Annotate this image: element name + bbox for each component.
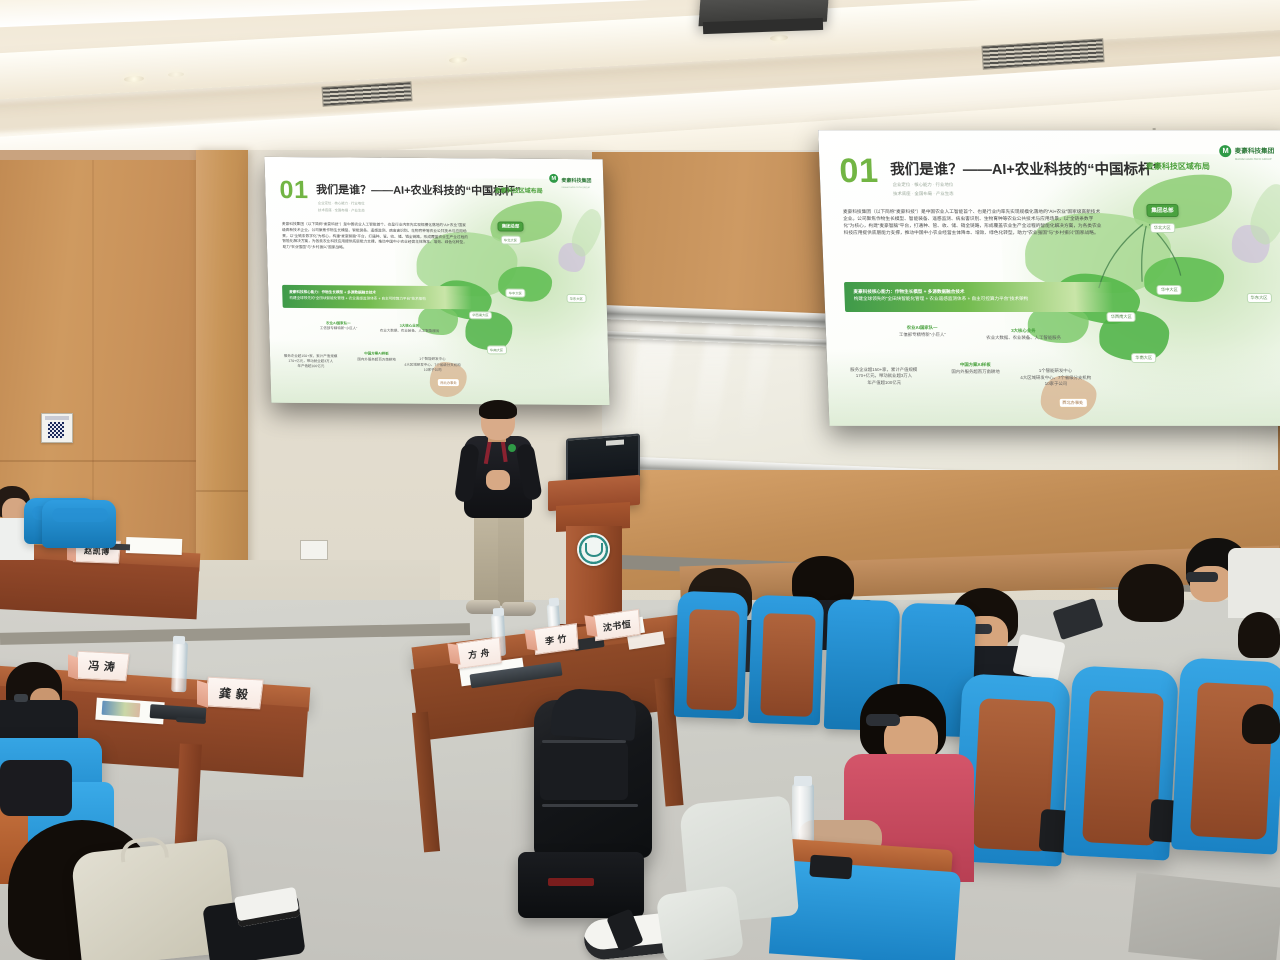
presenter-hair — [479, 400, 517, 419]
lecture-hall-photo: 01 我们是谁？——AI+农业科技的“中国标杆” 企业定位 · 核心能力 · 行… — [0, 0, 1280, 960]
map-label-hq: 集团总部 — [1146, 204, 1179, 217]
map-label-region: 华北大区 — [1150, 223, 1175, 233]
name-card-text: 沈书恒 — [602, 617, 631, 634]
audience-body — [1228, 548, 1280, 618]
map-label-region: 华南大区 — [486, 345, 506, 354]
name-card: 冯 涛 — [74, 651, 129, 682]
logo-mark-icon: M — [549, 174, 558, 183]
head-table-upper-front — [0, 557, 199, 620]
map-label-region: 西北办事处 — [1058, 398, 1087, 408]
chair-wood-back — [760, 613, 816, 717]
map-label-region: 华东大区 — [566, 294, 586, 303]
green-bar-line-1: 麦豪科技核心能力：作物生长模型 + 多源数据融合技术 — [853, 289, 1103, 295]
bottle-cap — [173, 636, 185, 644]
slide-subtitle-1: 企业定位 · 核心能力 · 行业地位 — [318, 200, 365, 205]
slide-subtitle-2: 技术底座 · 全国布局 · 产业生态 — [893, 191, 954, 197]
slide-stat-head: 3大核心业务 — [957, 328, 1089, 335]
slide-left: 01 我们是谁？——AI+农业科技的“中国标杆” 企业定位 · 核心能力 · 行… — [271, 163, 604, 399]
slide-stat-line: 年产值超100亿元 — [277, 364, 345, 370]
audience-legs — [656, 885, 745, 960]
projection-screen-left: 01 我们是谁？——AI+农业科技的“中国标杆” 企业定位 · 核心能力 · 行… — [264, 157, 609, 405]
wall-small-sign — [300, 540, 328, 560]
projection-screen-right: 01 我们是谁？——AI+农业科技的“中国标杆” 企业定位 · 核心能力 · 行… — [818, 130, 1280, 426]
slide-stat: 1个智能研发中心 4大区域研发中心、7个省级分支机构 10家子公司 — [392, 357, 474, 373]
green-bar-line-1: 麦豪科技核心能力：作物生长模型 + 多源数据融合技术 — [289, 290, 465, 296]
slide-subtitle-1: 企业定位 · 核心能力 · 行业地位 — [893, 182, 954, 188]
presenter-leg-right — [498, 508, 524, 606]
screen-surface-right: 01 我们是谁？——AI+农业科技的“中国标杆” 企业定位 · 核心能力 · 行… — [825, 137, 1280, 419]
backpack — [534, 700, 652, 858]
audience-hair — [1238, 612, 1280, 658]
slide-stat: 1个智能研发中心 4大区域研发中心、7个省级分支机构 10家子公司 — [997, 368, 1115, 388]
presenter-leg-left — [474, 508, 498, 604]
logo-tagline: MAIHAO AGRI-TECH GROUP — [562, 187, 592, 189]
slide-number: 01 — [839, 154, 880, 188]
screen-surface-left: 01 我们是谁？——AI+农业科技的“中国标杆” 企业定位 · 核心能力 · 行… — [271, 163, 604, 399]
bottle-cap — [794, 776, 812, 786]
glasses-icon — [1186, 572, 1218, 582]
university-emblem-icon — [577, 533, 610, 566]
map-label-hq: 集团总部 — [498, 221, 524, 231]
slide-stat-line: 农业大数据、农业装备、人工智能服务 — [958, 335, 1090, 342]
printed-material — [102, 701, 141, 718]
map-label-region: 华中大区 — [505, 289, 525, 298]
slide-title: 我们是谁？——AI+农业科技的“中国标杆” — [890, 158, 1160, 179]
slide-body: 麦豪科技集团（以下简称“麦豪科技”）是中国农业人工智能首个、也是行业内率先实现规… — [282, 222, 469, 252]
slide-subtitle-2: 技术底座 · 全国布局 · 产业生态 — [318, 207, 365, 212]
chair-blue[interactable] — [769, 860, 961, 960]
audience-hair — [1242, 704, 1280, 744]
bottle-cap — [549, 598, 560, 607]
slide-right: 01 我们是谁？——AI+农业科技的“中国标杆” 企业定位 · 核心能力 · 行… — [825, 137, 1280, 419]
map-label-region: 华西南大区 — [469, 311, 493, 320]
slide-map-title: 麦豪科技区域布局 — [495, 186, 543, 195]
name-card-text: 冯 涛 — [88, 657, 117, 674]
laptop-bag — [518, 852, 644, 918]
slide-map-title: 麦豪科技区域布局 — [1146, 161, 1210, 172]
slide-logo: M 麦豪科技集团 MAIHAO AGRI-TECH GROUP — [1219, 140, 1274, 161]
audience-hair — [1118, 564, 1184, 622]
slide-number: 01 — [279, 178, 309, 203]
wall-qr-notice — [41, 413, 73, 443]
map-label-region: 华西南大区 — [1107, 312, 1136, 322]
slide-stat: 服务企业超150+家，累计产值规模 170+亿元，带动就业超3万人 年产值超10… — [834, 367, 934, 387]
map-label-region: 华北大区 — [500, 236, 520, 245]
aisle-floor — [1128, 872, 1280, 960]
name-card-text: 方 舟 — [468, 645, 491, 661]
bag-on-arm — [809, 855, 852, 880]
name-card: 龚 毅 — [204, 677, 264, 710]
logo-mark-icon: M — [1219, 145, 1231, 157]
water-bottle[interactable] — [171, 642, 188, 692]
map-label-region: 华南大区 — [1131, 353, 1156, 363]
map-label-region: 华东大区 — [1246, 293, 1271, 303]
presenter — [452, 400, 544, 622]
slide-stat: 服务企业超150+家，累计产值规模 170+亿元，带动就业超3万人 年产值超10… — [277, 354, 345, 370]
glasses-icon — [866, 714, 900, 726]
green-bar-line-2: 构建全球领先的“全田块智能化管理 + 农业遥感监测体系 + 自主可控算力平台”技… — [854, 296, 1104, 302]
presenter-hands — [486, 470, 510, 490]
slide-green-bar: 麦豪科技核心能力：作物生长模型 + 多源数据融合技术 构建全球领先的“全田块智能… — [844, 282, 1113, 312]
presenter-shoe-right — [502, 602, 536, 616]
bottle-cap — [493, 608, 504, 617]
badge-icon — [508, 444, 516, 452]
green-bar-line-2: 构建全球领先的“全田块智能化管理 + 农业遥感监测体系 + 自主可控算力平台”技… — [289, 296, 465, 302]
glasses-icon — [14, 694, 28, 702]
slide-body: 麦豪科技集团（以下简称“麦豪科技”）是中国农业人工智能首个、也是行业内率先实现规… — [843, 208, 1103, 237]
logo-name: 麦豪科技集团 — [1235, 148, 1275, 155]
logo-tagline: MAIHAO AGRI-TECH GROUP — [1235, 158, 1275, 161]
slide-stat-line: 10家子公司 — [997, 381, 1115, 388]
backpack-front-pocket — [540, 742, 628, 800]
bag-logo — [548, 878, 594, 886]
slide-logo: M 麦豪科技集团 MAIHAO AGRI-TECH GROUP — [549, 169, 592, 189]
map-label-region: 华中大区 — [1157, 285, 1182, 295]
slide-stat: 3大核心业务 农业大数据、农业装备、人工智能服务 — [364, 324, 456, 335]
name-card-text: 李 竹 — [545, 631, 568, 647]
slide-title: 我们是谁？——AI+农业科技的“中国标杆” — [316, 181, 521, 198]
slide-green-bar: 麦豪科技核心能力：作物生长模型 + 多源数据融合技术 构建全球领先的“全田块智能… — [282, 285, 472, 310]
chair-wood-back — [686, 609, 739, 711]
qr-code-icon — [48, 422, 64, 438]
zipper — [542, 740, 626, 743]
logo-name: 麦豪科技集团 — [561, 178, 591, 184]
slide-stat-line: 农业大数据、农业装备、人工智能服务 — [364, 329, 455, 335]
slide-stat-line: 年产值超100亿元 — [835, 380, 934, 387]
zipper — [542, 804, 638, 807]
paper — [126, 537, 183, 555]
map-label-region: 西北办事处 — [437, 378, 461, 387]
slide-stat-line: 10家子公司 — [392, 367, 473, 373]
qr-notice-header — [45, 416, 69, 420]
slide-stat: 3大核心业务 农业大数据、农业装备、人工智能服务 — [957, 328, 1089, 341]
backpack-flap — [550, 687, 637, 741]
name-card-text: 龚 毅 — [218, 684, 250, 702]
audience-body — [0, 760, 72, 816]
